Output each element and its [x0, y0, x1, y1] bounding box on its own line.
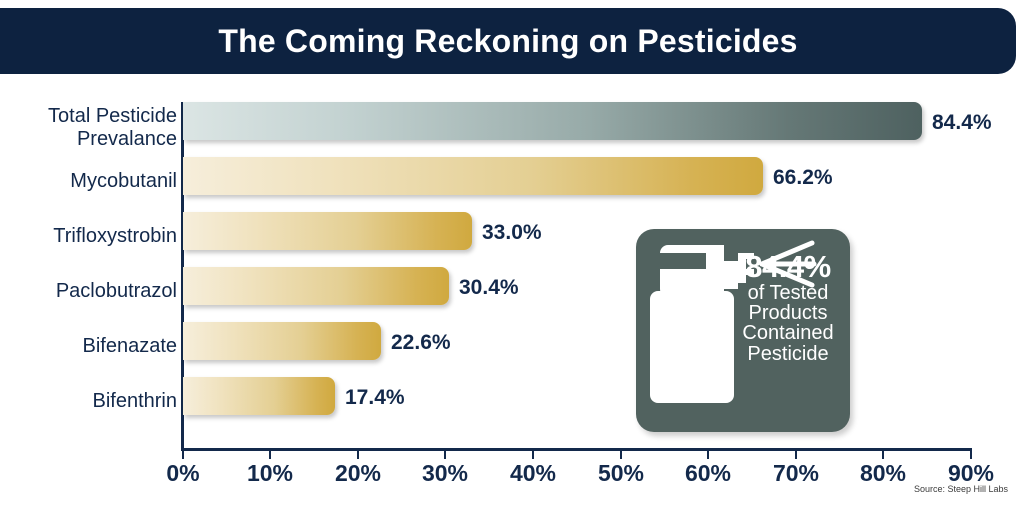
bar-bifenthrin: [183, 377, 335, 415]
x-tick-mark-0: [182, 448, 184, 459]
bar-value-trifloxystrobin: 33.0%: [482, 221, 542, 245]
x-tick-label-3: 30%: [410, 460, 480, 487]
callout-line-1: of Tested: [732, 283, 844, 303]
bar-value-total-pesticide-prevalance: 84.4%: [932, 111, 992, 135]
bar-value-bifenazate: 22.6%: [391, 331, 451, 355]
x-tick-label-6: 60%: [673, 460, 743, 487]
x-tick-label-9: 90%: [936, 460, 1006, 487]
bar-chart: Total Pesticide Prevalance Mycobutanil T…: [0, 88, 1024, 505]
x-tick-mark-5: [620, 448, 622, 459]
x-axis-line: [181, 448, 972, 451]
bar-value-bifenthrin: 17.4%: [345, 386, 405, 410]
callout-big-value: 84.4%: [732, 251, 844, 283]
category-label-paclobutrazol: Paclobutrazol: [56, 280, 177, 303]
x-tick-label-5: 50%: [586, 460, 656, 487]
callout-line-4: Pesticide: [732, 344, 844, 364]
x-tick-mark-9: [970, 448, 972, 459]
pesticide-callout-box: 84.4% of Tested Products Contained Pesti…: [636, 229, 850, 432]
callout-line-3: Contained: [732, 323, 844, 343]
page-title: The Coming Reckoning on Pesticides: [218, 23, 797, 60]
x-tick-mark-6: [707, 448, 709, 459]
x-tick-label-7: 70%: [761, 460, 831, 487]
x-tick-label-4: 40%: [498, 460, 568, 487]
x-tick-mark-1: [269, 448, 271, 459]
bar-mycobutanil: [183, 157, 763, 195]
bar-trifloxystrobin: [183, 212, 472, 250]
bar-value-paclobutrazol: 30.4%: [459, 276, 519, 300]
category-label-mycobutanil: Mycobutanil: [70, 170, 177, 193]
x-tick-label-1: 10%: [235, 460, 305, 487]
bar-bifenazate: [183, 322, 381, 360]
source-note: Source: Steep Hill Labs: [914, 484, 1008, 494]
category-label-total-pesticide-prevalance: Total Pesticide Prevalance: [48, 105, 177, 151]
x-tick-mark-8: [882, 448, 884, 459]
category-label-trifloxystrobin: Trifloxystrobin: [53, 225, 177, 248]
x-tick-mark-2: [357, 448, 359, 459]
x-tick-label-0: 0%: [148, 460, 218, 487]
x-tick-mark-3: [444, 448, 446, 459]
bar-paclobutrazol: [183, 267, 449, 305]
x-tick-mark-4: [532, 448, 534, 459]
category-label-bifenazate: Bifenazate: [82, 335, 177, 358]
callout-text-block: 84.4% of Tested Products Contained Pesti…: [732, 251, 844, 364]
title-banner: The Coming Reckoning on Pesticides: [0, 8, 1016, 74]
x-tick-mark-7: [795, 448, 797, 459]
category-label-bifenthrin: Bifenthrin: [93, 390, 178, 413]
bar-value-mycobutanil: 66.2%: [773, 166, 833, 190]
callout-line-2: Products: [732, 303, 844, 323]
x-tick-label-8: 80%: [848, 460, 918, 487]
x-tick-label-2: 20%: [323, 460, 393, 487]
bar-total-pesticide-prevalance: [183, 102, 922, 140]
